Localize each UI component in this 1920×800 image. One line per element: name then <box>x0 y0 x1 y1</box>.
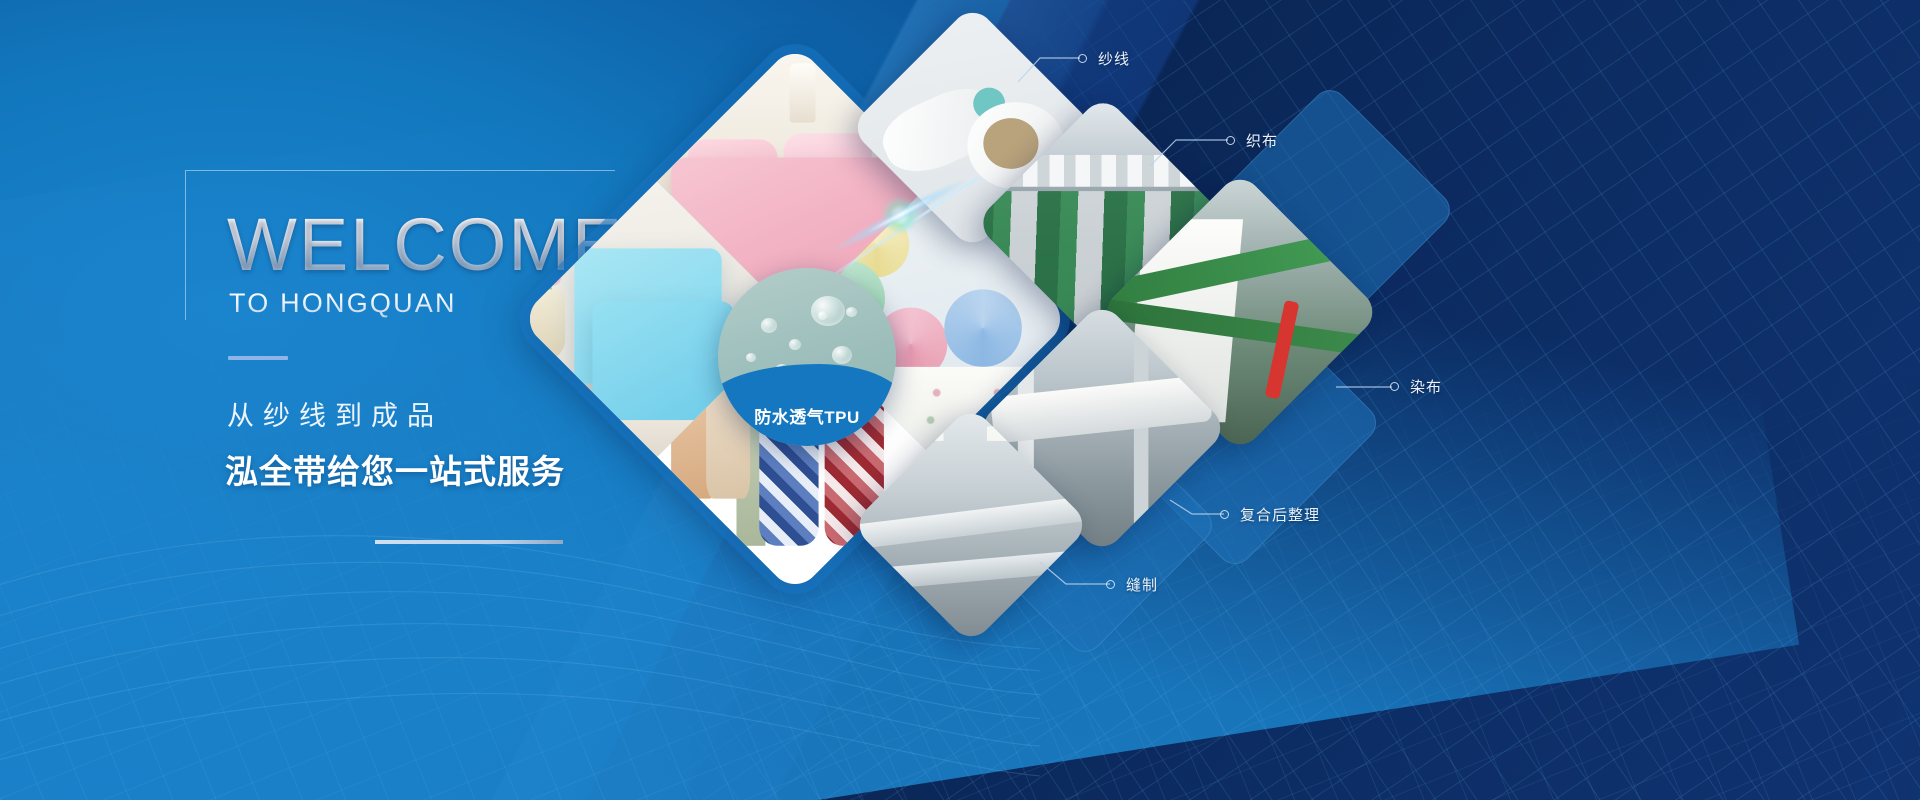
tpu-feature-badge: 防水透气TPU <box>718 268 896 446</box>
callout-dot-dyeing <box>1390 382 1399 391</box>
callout-dot-yarn <box>1078 54 1087 63</box>
callout-label-laminating: 复合后整理 <box>1240 504 1320 525</box>
callout-label-yarn: 纱线 <box>1098 48 1130 69</box>
page-subtitle: TO HONGQUAN <box>229 288 457 319</box>
tagline-secondary: 泓全带给您一站式服务 <box>225 445 565 493</box>
callout-label-weaving: 织布 <box>1246 130 1278 151</box>
tpu-badge-label: 防水透气TPU <box>718 403 896 428</box>
callout-dot-sewing <box>1106 580 1115 589</box>
callout-dot-laminating <box>1220 510 1229 519</box>
callout-label-sewing: 缝制 <box>1126 574 1158 595</box>
callout-label-dyeing: 染布 <box>1410 376 1442 397</box>
callout-dot-weaving <box>1226 136 1235 145</box>
hero-banner: WELCOME TO HONGQUAN 从纱线到成品 泓全带给您一站式服务 <box>0 0 1920 800</box>
accent-rule-short <box>228 356 288 360</box>
accent-rule-long <box>375 540 563 544</box>
tagline-primary: 从纱线到成品 <box>227 394 443 433</box>
page-title: WELCOME <box>227 210 623 280</box>
